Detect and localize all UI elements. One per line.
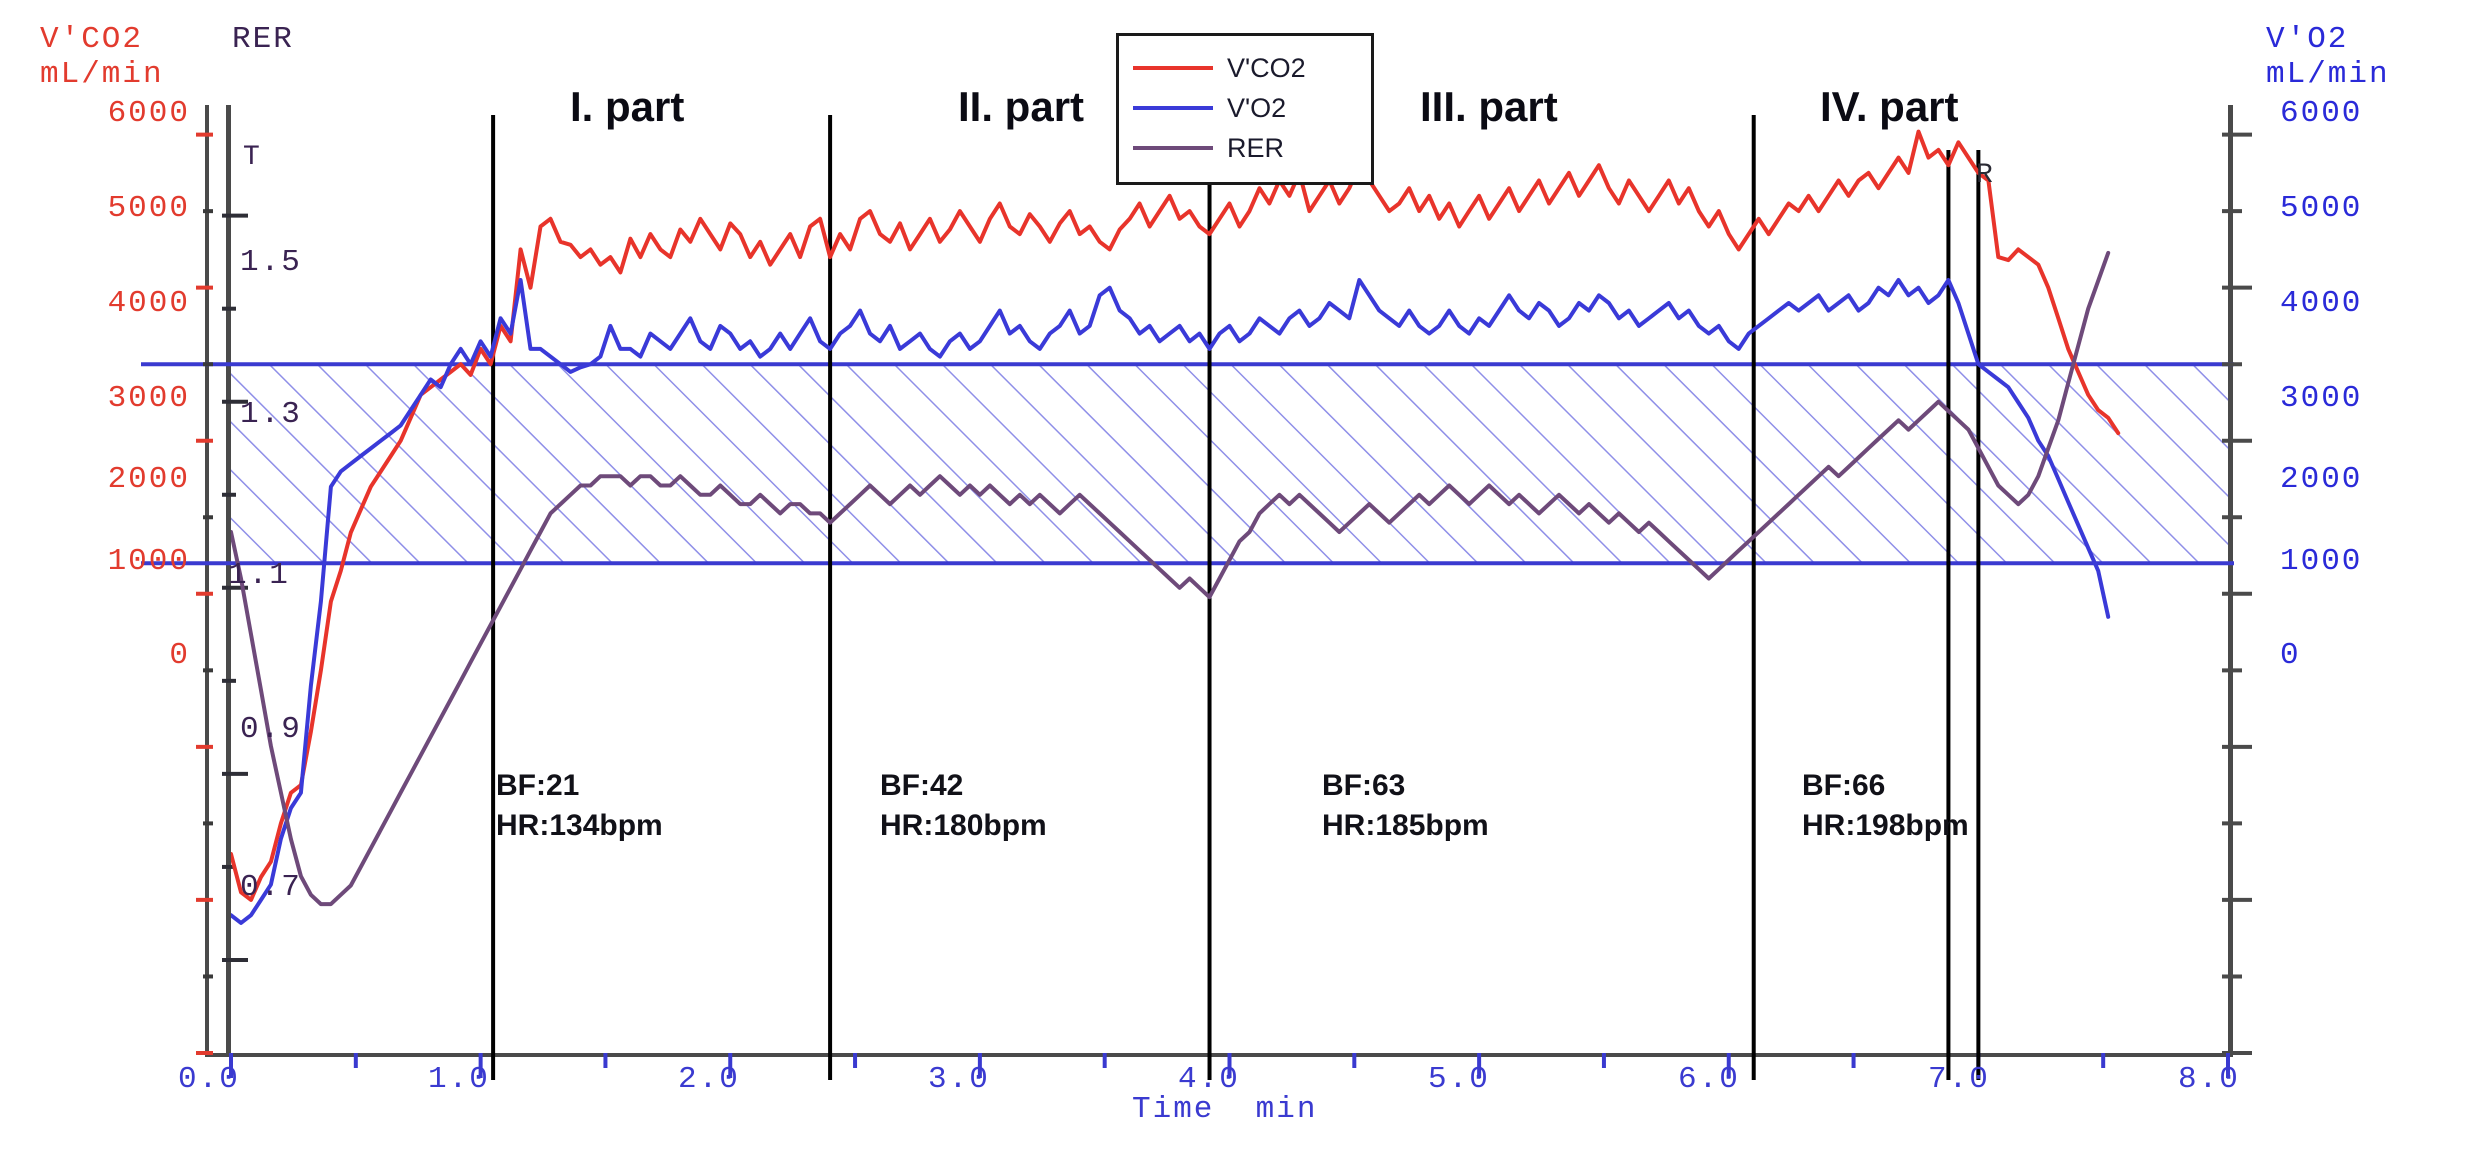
rer-tick-1-1: 1.1: [228, 558, 290, 593]
left-tick-5000: 5000: [40, 191, 190, 226]
hr-value-3: HR:185bpm: [1322, 809, 1489, 842]
bf-value-3: BF:63: [1322, 769, 1405, 802]
x-tick-0-0: 0.0: [178, 1062, 240, 1097]
annotation-part-1: BF:21HR:134bpm: [496, 766, 663, 846]
legend-swatch-rer-icon: [1133, 146, 1213, 150]
right-tick-1000: 1000: [2280, 544, 2362, 579]
left-tick-4000: 4000: [40, 286, 190, 321]
annotation-part-4: BF:66HR:198bpm: [1802, 766, 1969, 846]
right-tick-0: 0: [2280, 638, 2301, 673]
legend-entry-vco2: V'CO2: [1133, 48, 1371, 88]
part-label-3: III. part: [1420, 83, 1558, 131]
legend-entry-rer: RER: [1133, 128, 1371, 168]
x-tick-8-0: 8.0: [2178, 1062, 2240, 1097]
rer-tick-0-7: 0.7: [240, 870, 302, 905]
part-label-4: IV. part: [1820, 83, 1959, 131]
rer-tick-1-3: 1.3: [240, 397, 302, 432]
legend-entry-vo2: V'O2: [1133, 88, 1371, 128]
right-tick-6000: 6000: [2280, 96, 2362, 131]
hr-value-4: HR:198bpm: [1802, 809, 1969, 842]
legend-swatch-vo2-icon: [1133, 106, 1213, 110]
bf-value-4: BF:66: [1802, 769, 1885, 802]
legend-swatch-vco2-icon: [1133, 66, 1213, 70]
legend: V'CO2 V'O2 RER: [1116, 33, 1374, 185]
annotation-part-2: BF:42HR:180bpm: [880, 766, 1047, 846]
x-tick-2-0: 2.0: [678, 1062, 740, 1097]
rer-tick-1-5: 1.5: [240, 245, 302, 280]
recovery-marker-R: R: [1976, 160, 1994, 191]
hr-value-1: HR:134bpm: [496, 809, 663, 842]
cpet-chart-figure: V'CO2mL/min RER V'O2mL/min 6000 5000 400…: [0, 0, 2475, 1150]
legend-label-vo2: V'O2: [1227, 93, 1286, 124]
right-tick-2000: 2000: [2280, 462, 2362, 497]
left-tick-2000: 2000: [40, 462, 190, 497]
bf-value-1: BF:21: [496, 769, 579, 802]
right-tick-4000: 4000: [2280, 286, 2362, 321]
left-tick-6000: 6000: [40, 96, 190, 131]
legend-label-rer: RER: [1227, 133, 1284, 164]
right-tick-5000: 5000: [2280, 191, 2362, 226]
left-tick-1000: 1000: [40, 544, 190, 579]
bf-value-2: BF:42: [880, 769, 963, 802]
left-tick-0: 0: [40, 638, 190, 673]
target-band-hatch: [231, 364, 2228, 563]
x-tick-6-0: 6.0: [1678, 1062, 1740, 1097]
x-tick-1-0: 1.0: [428, 1062, 490, 1097]
rer-tick-0-9: 0.9: [240, 712, 302, 747]
x-tick-3-0: 3.0: [928, 1062, 990, 1097]
x-tick-5-0: 5.0: [1428, 1062, 1490, 1097]
annotation-part-3: BF:63HR:185bpm: [1322, 766, 1489, 846]
x-tick-7-0: 7.0: [1928, 1062, 1990, 1097]
right-tick-3000: 3000: [2280, 381, 2362, 416]
hr-value-2: HR:180bpm: [880, 809, 1047, 842]
x-axis-title: Time min: [1132, 1092, 1317, 1127]
left-tick-3000: 3000: [40, 381, 190, 416]
threshold-marker-T: T: [243, 142, 261, 173]
part-label-1: I. part: [570, 83, 684, 131]
legend-label-vco2: V'CO2: [1227, 53, 1306, 84]
part-label-2: II. part: [958, 83, 1084, 131]
